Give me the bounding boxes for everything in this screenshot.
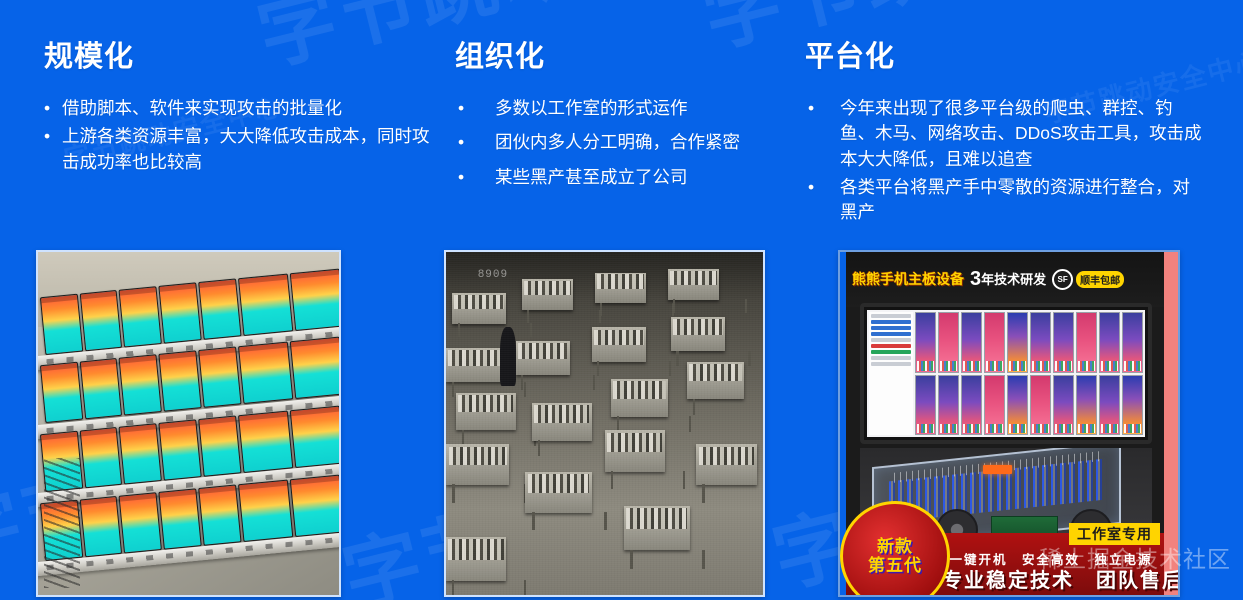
ad-footer-banner: 工作室专用 一键开机 安全高效 独立电源 专业稳定技术 团队售后 新款 第五代 <box>846 533 1164 595</box>
ad-illustration: 熊熊手机主板设备 3年技术研发 SF 顺丰包邮 <box>840 252 1178 595</box>
ad-slogan: 专业稳定技术 团队售后 <box>942 564 1160 593</box>
workbench <box>624 506 691 551</box>
list-item: • 某些黑产甚至成立了公司 <box>455 165 785 190</box>
workbench <box>605 430 665 471</box>
device-screen <box>1007 375 1028 435</box>
workbench <box>668 269 719 300</box>
bullet-dot-icon: • <box>44 124 58 149</box>
bullet-text: 团伙内多人分工明确，合作紧密 <box>495 130 785 155</box>
bullet-list-platform: • 今年来出现了很多平台级的爬虫、群控、钓鱼、木马、网络攻击、DDoS攻击工具，… <box>805 96 1205 226</box>
ad-years-label: 3年技术研发 <box>970 268 1046 291</box>
workbench <box>446 444 509 485</box>
phone-device <box>79 290 122 352</box>
bullet-dot-icon: • <box>458 165 472 190</box>
device-screen <box>915 375 936 435</box>
phone-device <box>198 278 241 340</box>
workbench <box>595 273 646 304</box>
workbench <box>522 279 573 310</box>
device-screen <box>1053 375 1074 435</box>
photo-device-warehouse: 8909 <box>444 250 765 597</box>
panel-row <box>871 320 911 324</box>
led-display-icon <box>983 465 1012 475</box>
list-item: • 上游各类资源丰富，大大降低攻击成本，同时攻击成功率也比较高 <box>44 124 434 175</box>
phone-device <box>238 479 294 542</box>
bullet-dot-icon: • <box>458 130 472 155</box>
workbench <box>592 327 646 361</box>
workbench <box>611 379 668 417</box>
phone-device <box>158 282 201 344</box>
workbench <box>446 537 506 582</box>
workbench <box>687 362 744 400</box>
bullet-text: 上游各类资源丰富，大大降低攻击成本，同时攻击成功率也比较高 <box>62 124 434 175</box>
column-scale: 规模化 • 借助脚本、软件来实现攻击的批量化 • 上游各类资源丰富，大大降低攻击… <box>44 42 434 178</box>
phone-device <box>40 294 83 356</box>
badge-line-new: 新款 <box>877 538 913 556</box>
workbench <box>446 348 503 382</box>
list-item: • 各类平台将黑产手中零散的资源进行整合，对黑产 <box>805 175 1205 226</box>
ad-shipping-badge: SF 顺丰包邮 <box>1052 269 1124 290</box>
phone-device <box>290 268 341 331</box>
bullet-dot-icon: • <box>808 96 822 121</box>
phone-device <box>238 411 294 474</box>
panel-row <box>871 350 911 354</box>
slide-root: 字节跳动 字节跳动 字节跳动 字节跳动 字节跳动 字节跳动安全中心 字节跳动安全… <box>0 0 1243 600</box>
bullet-text: 多数以工作室的形式运作 <box>495 96 785 121</box>
phone-device <box>290 474 341 537</box>
panel-row <box>871 338 911 342</box>
column-title-scale: 规模化 <box>44 42 434 74</box>
phone-device <box>119 492 162 554</box>
column-organization: 组织化 • 多数以工作室的形式运作 • 团伙内多人分工明确，合作紧密 • 某些黑… <box>455 42 785 199</box>
bullet-text: 各类平台将黑产手中零散的资源进行整合，对黑产 <box>840 175 1205 226</box>
column-title-organization: 组织化 <box>455 42 785 74</box>
phone-device <box>79 358 122 420</box>
list-item: • 团伙内多人分工明确，合作紧密 <box>455 130 785 155</box>
ad-shipping-text: 顺丰包邮 <box>1076 271 1124 288</box>
device-screen <box>1122 312 1143 372</box>
ad-years-text: 年技术研发 <box>981 272 1046 287</box>
phone-device <box>158 351 201 413</box>
phone-device <box>238 342 294 405</box>
panel-row <box>871 344 911 348</box>
phone-device <box>79 427 122 489</box>
workbench <box>516 341 570 375</box>
phone-device <box>119 355 162 417</box>
device-screen <box>961 312 982 372</box>
control-panel <box>869 312 913 435</box>
phone-rack-illustration <box>38 252 339 595</box>
device-screen <box>984 312 1005 372</box>
bullet-dot-icon: • <box>458 96 472 121</box>
device-screen <box>938 375 959 435</box>
device-screen <box>938 312 959 372</box>
bullet-list-organization: • 多数以工作室的形式运作 • 团伙内多人分工明确，合作紧密 • 某些黑产甚至成… <box>455 96 785 190</box>
phone-device <box>238 273 294 336</box>
phone-device <box>290 337 341 400</box>
phone-device <box>79 496 122 558</box>
phone-device <box>158 488 201 550</box>
camera-timestamp: 8909 <box>478 269 508 281</box>
device-screen <box>915 312 936 372</box>
bullet-text: 今年来出现了很多平台级的爬虫、群控、钓鱼、木马、网络攻击、DDoS攻击工具，攻击… <box>840 96 1205 172</box>
device-screen <box>1099 312 1120 372</box>
rack-cables <box>44 458 80 588</box>
panel-row <box>871 356 911 360</box>
device-screen-row <box>915 312 1143 372</box>
device-screen-grid <box>915 312 1143 435</box>
ad-brand-name: 熊熊手机主板设备 <box>852 269 964 289</box>
badge-line-gen: 第五代 <box>868 557 922 575</box>
list-item: • 多数以工作室的形式运作 <box>455 96 785 121</box>
device-screen <box>1007 312 1028 372</box>
column-platform: 平台化 • 今年来出现了很多平台级的爬虫、群控、钓鱼、木马、网络攻击、DDoS攻… <box>805 42 1205 229</box>
device-screen <box>1053 312 1074 372</box>
worker-silhouette <box>500 327 516 385</box>
device-screen <box>1076 312 1097 372</box>
device-screen <box>961 375 982 435</box>
panel-row <box>871 314 911 318</box>
device-screen <box>1099 375 1120 435</box>
phone-device <box>290 406 341 469</box>
device-screen <box>1122 375 1143 435</box>
workbench <box>452 293 506 324</box>
photo-phone-farm-rack <box>36 250 341 597</box>
phone-device <box>119 423 162 485</box>
phone-device <box>158 419 201 481</box>
warehouse-illustration: 8909 <box>446 252 763 595</box>
ad-years-number: 3 <box>970 268 981 290</box>
panel-row <box>871 362 911 366</box>
bullet-text: 某些黑产甚至成立了公司 <box>495 165 785 190</box>
ad-header-banner: 熊熊手机主板设备 3年技术研发 SF 顺丰包邮 <box>846 252 1164 307</box>
bullet-dot-icon: • <box>44 96 58 121</box>
bullet-text: 借助脚本、软件来实现攻击的批量化 <box>62 96 434 121</box>
workbench <box>456 393 516 431</box>
workbench <box>532 403 592 441</box>
workbench <box>671 317 725 351</box>
bullet-dot-icon: • <box>808 175 822 200</box>
phone-device <box>198 484 241 546</box>
column-title-platform: 平台化 <box>805 42 1205 74</box>
sf-express-logo-icon: SF <box>1052 269 1073 290</box>
list-item: • 借助脚本、软件来实现攻击的批量化 <box>44 96 434 121</box>
device-screen <box>1076 375 1097 435</box>
device-screen <box>984 375 1005 435</box>
monitor-screen <box>867 310 1145 437</box>
workbench <box>525 472 592 513</box>
ad-right-edge <box>1164 252 1178 595</box>
device-screen <box>1030 312 1051 372</box>
ad-monitor <box>860 303 1152 444</box>
panel-row <box>871 332 911 336</box>
phone-device <box>198 347 241 409</box>
device-screen-row <box>915 375 1143 435</box>
list-item: • 今年来出现了很多平台级的爬虫、群控、钓鱼、木马、网络攻击、DDoS攻击工具，… <box>805 96 1205 172</box>
photo-motherboard-farm-ad: 熊熊手机主板设备 3年技术研发 SF 顺丰包邮 <box>838 250 1180 597</box>
ad-studio-tag: 工作室专用 <box>1069 523 1160 545</box>
bullet-list-scale: • 借助脚本、软件来实现攻击的批量化 • 上游各类资源丰富，大大降低攻击成本，同… <box>44 96 434 175</box>
phone-device <box>198 416 241 478</box>
panel-row <box>871 326 911 330</box>
device-screen <box>1030 375 1051 435</box>
phone-device <box>40 362 83 424</box>
workbench <box>696 444 756 485</box>
phone-device <box>119 286 162 348</box>
